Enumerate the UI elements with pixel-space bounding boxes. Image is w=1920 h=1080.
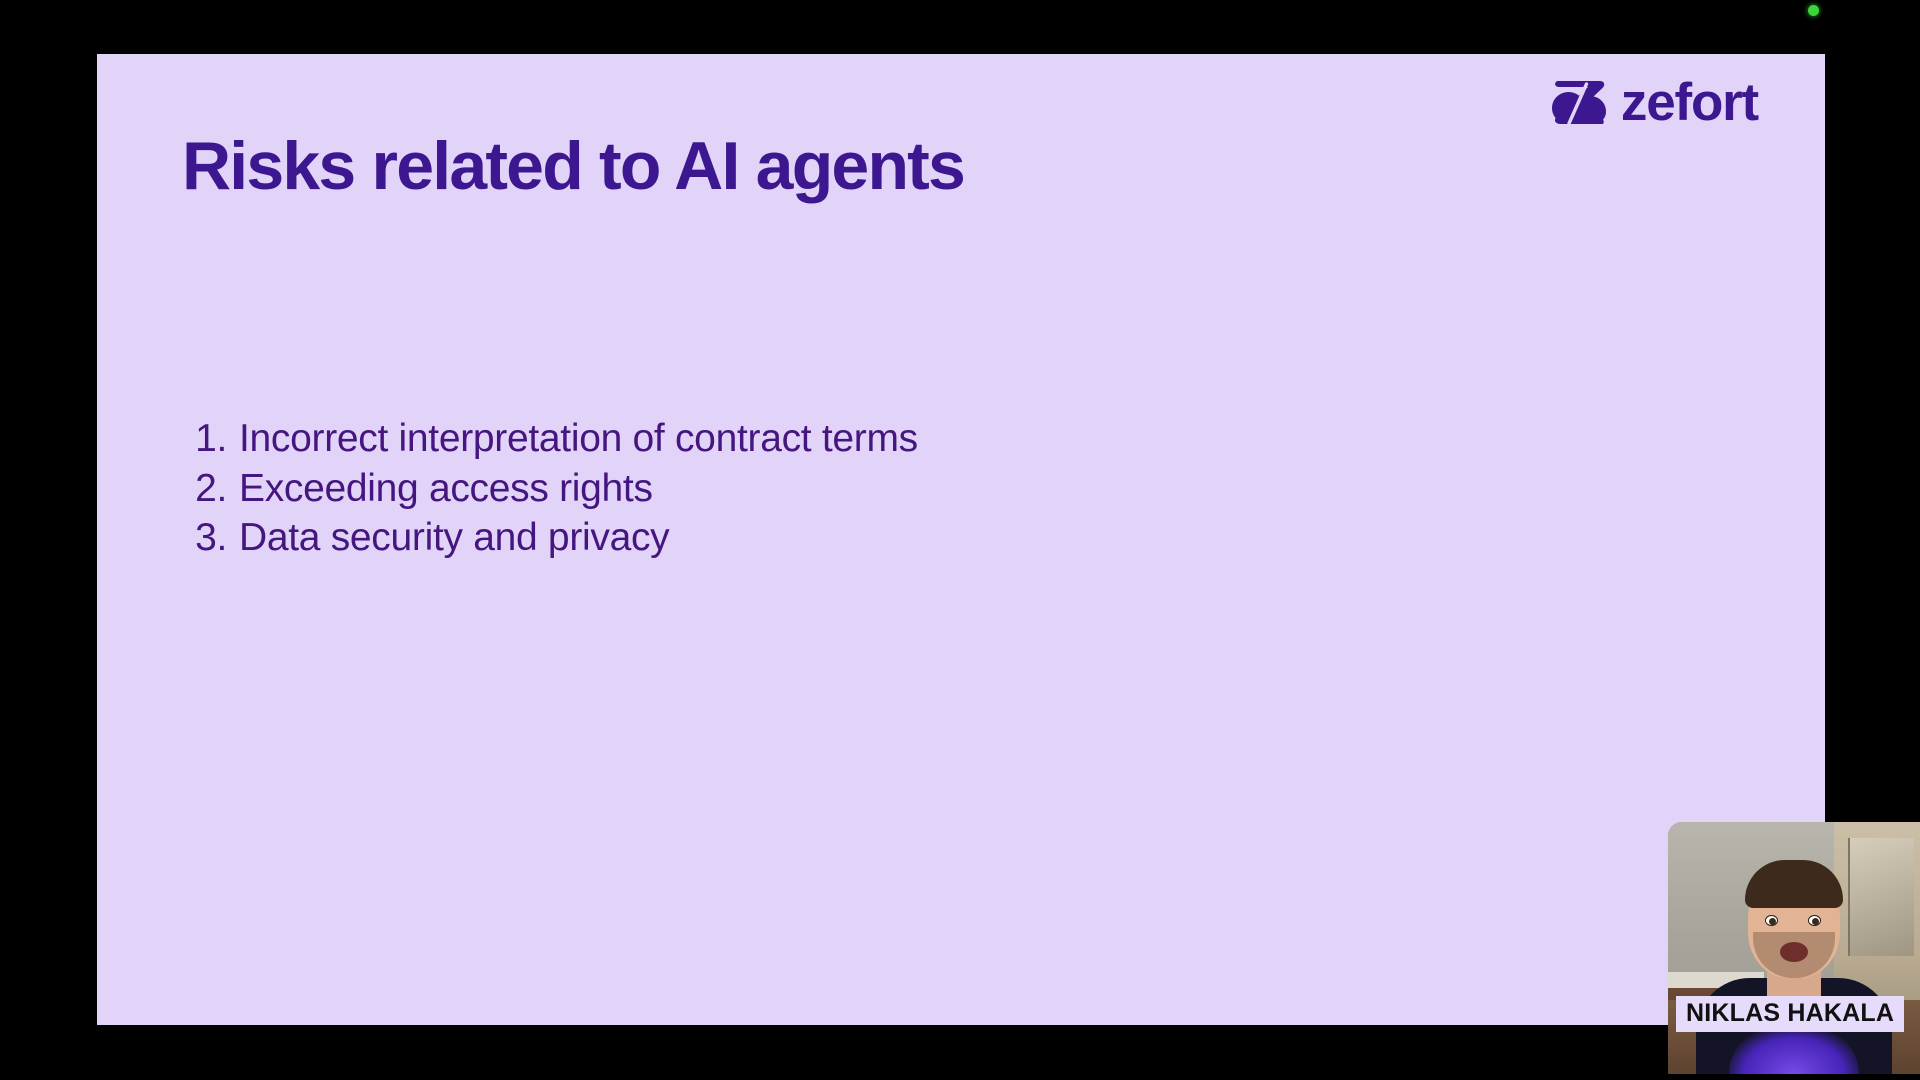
presenter-eye-right: [1808, 915, 1821, 926]
list-item: 2. Exceeding access rights: [187, 464, 918, 514]
zefort-z-mark-icon: [1550, 78, 1608, 128]
risk-list: 1. Incorrect interpretation of contract …: [187, 414, 918, 563]
presenter-mouth: [1780, 942, 1808, 962]
zefort-logo: zefort: [1550, 76, 1758, 129]
list-item-number: 1.: [187, 414, 239, 464]
slide-canvas: zefort Risks related to AI agents 1. Inc…: [97, 54, 1825, 1025]
presenter-name-label: NIKLAS HAKALA: [1676, 996, 1904, 1033]
list-item-label: Exceeding access rights: [239, 464, 653, 514]
list-item-label: Incorrect interpretation of contract ter…: [239, 414, 918, 464]
presenter-pupil-left: [1769, 918, 1776, 925]
presentation-screen: zefort Risks related to AI agents 1. Inc…: [0, 0, 1920, 1080]
list-item-label: Data security and privacy: [239, 513, 669, 563]
presenter-eye-left: [1765, 915, 1778, 926]
list-item-number: 3.: [187, 513, 239, 563]
presenter-pupil-right: [1812, 918, 1819, 925]
list-item: 1. Incorrect interpretation of contract …: [187, 414, 918, 464]
recording-status-dot: [1808, 5, 1819, 16]
list-item-number: 2.: [187, 464, 239, 514]
slide-title: Risks related to AI agents: [182, 129, 964, 204]
zefort-wordmark: zefort: [1621, 76, 1758, 129]
list-item: 3. Data security and privacy: [187, 513, 918, 563]
webcam-overlay[interactable]: NIKLAS HAKALA: [1668, 822, 1920, 1074]
